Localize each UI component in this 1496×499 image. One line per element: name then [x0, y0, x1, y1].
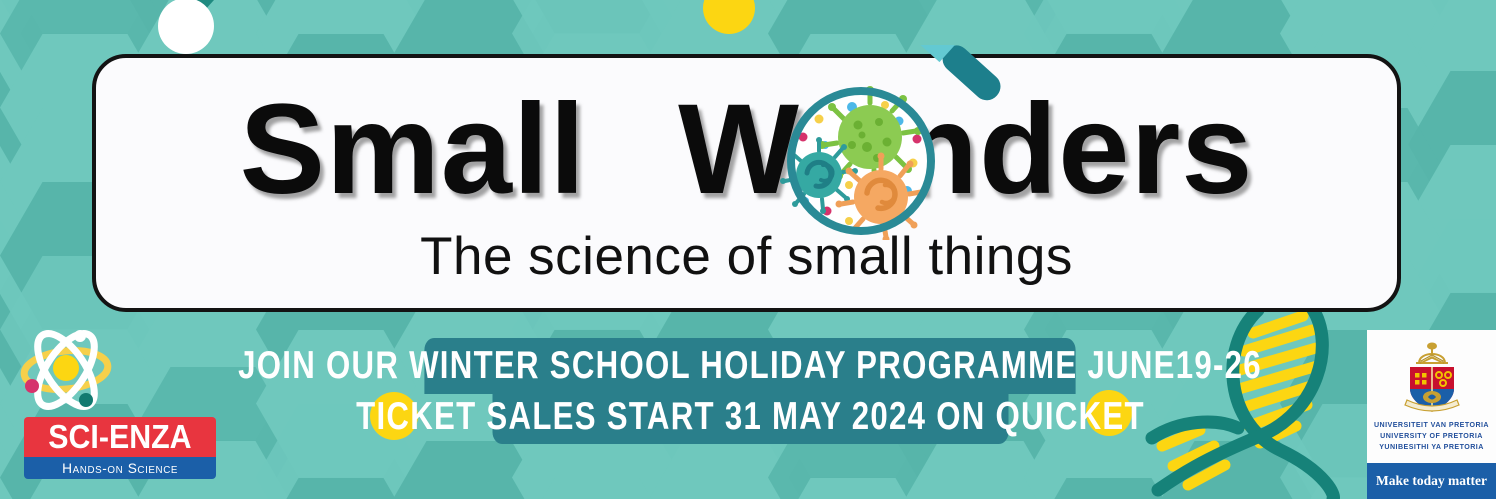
sci-enza-logo-tagline-box: Hands-on Science	[24, 457, 216, 479]
sci-enza-logo[interactable]: SCI-ENZA Hands-on Science	[24, 417, 216, 479]
info-banner-text-1: JOIN OUR WINTER SCHOOL HOLIDAY PROGRAMME…	[238, 344, 1262, 388]
molecule-icon	[130, 0, 360, 52]
atom-icon	[14, 322, 118, 418]
university-of-pretoria-logo[interactable]: UNIVERSITEIT VAN PRETORIA UNIVERSITY OF …	[1367, 330, 1496, 499]
info-banner-line-1: JOIN OUR WINTER SCHOOL HOLIDAY PROGRAMME…	[424, 338, 1075, 394]
dna-helix-icon	[1140, 300, 1370, 499]
up-logo-name-af: UNIVERSITEIT VAN PRETORIA	[1367, 420, 1496, 431]
up-logo-tagline: Make today matter	[1367, 463, 1496, 499]
title-card: Small W O nders The science of small thi…	[92, 54, 1401, 312]
up-logo-names: UNIVERSITEIT VAN PRETORIA UNIVERSITY OF …	[1367, 420, 1496, 452]
subtitle: The science of small things	[96, 226, 1397, 287]
main-title: Small W O nders	[96, 80, 1397, 220]
title-part-nders: nders	[900, 86, 1254, 214]
title-part-w: W	[678, 86, 800, 214]
sci-enza-logo-name: SCI-ENZA	[48, 418, 191, 456]
sci-enza-logo-name-box: SCI-ENZA	[24, 417, 216, 457]
up-logo-name-en: UNIVERSITY OF PRETORIA	[1367, 431, 1496, 442]
sci-enza-logo-tagline: Hands-on Science	[62, 460, 178, 476]
title-part-small: Small	[240, 86, 587, 214]
small-wonders-promo-banner: Small W O nders The science of small thi…	[0, 0, 1496, 499]
info-banner-line-2: TICKET SALES START 31 MAY 2024 ON QUICKE…	[493, 390, 1009, 444]
up-coat-of-arms-icon	[1401, 337, 1463, 417]
info-banner-text-2: TICKET SALES START 31 MAY 2024 ON QUICKE…	[356, 395, 1145, 439]
up-logo-name-zu: YUNIBESITHI YA PRETORIA	[1367, 442, 1496, 453]
